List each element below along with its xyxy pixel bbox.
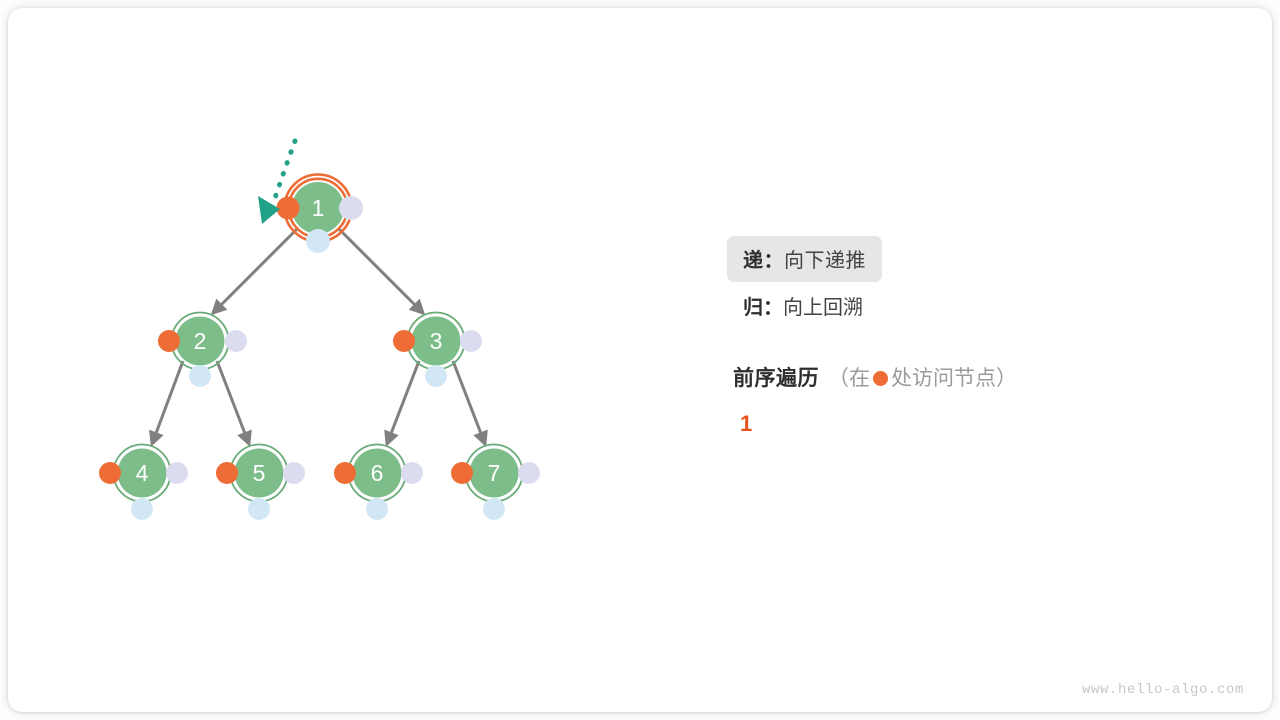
edge-2-4 [152, 361, 183, 444]
node-7-visit-dot [451, 462, 473, 484]
node-4-bottom-dot [131, 498, 153, 520]
edge-1-3 [339, 229, 423, 313]
traversal-title-text: 前序遍历 [733, 362, 819, 392]
screenshot-root: 1 2 3 4 [0, 0, 1280, 720]
node-4-visit-dot [99, 462, 121, 484]
node-3-right-dot [460, 330, 482, 352]
tree-node-5[interactable]: 5 [216, 445, 305, 521]
node-3-bottom-dot [425, 365, 447, 387]
binary-tree-diagram: 1 2 3 4 [0, 0, 1280, 720]
node-4-label: 4 [136, 460, 149, 486]
pointer-dotted-path [275, 141, 295, 198]
visit-dot-icon [873, 371, 888, 386]
node-2-right-dot [225, 330, 247, 352]
watermark: www.hello-algo.com [1082, 682, 1244, 698]
tree-node-4[interactable]: 4 [99, 445, 188, 521]
node-6-right-dot [401, 462, 423, 484]
node-7-bottom-dot [483, 498, 505, 520]
tree-node-7[interactable]: 7 [451, 445, 540, 521]
recurse-legend-text: 向下递推 [784, 250, 866, 272]
node-2-label: 2 [194, 328, 207, 354]
node-1-bottom-dot [306, 229, 330, 253]
traversal-subtitle: （在处访问节点） [828, 362, 1017, 392]
edge-3-6 [387, 361, 419, 444]
edge-2-5 [217, 361, 249, 444]
node-1-visit-dot [277, 197, 300, 220]
node-2-bottom-dot [189, 365, 211, 387]
node-6-label: 6 [371, 460, 384, 486]
traversal-output-sequence: 1 [740, 411, 755, 437]
node-5-visit-dot [216, 462, 238, 484]
node-2-visit-dot [158, 330, 180, 352]
node-4-right-dot [166, 462, 188, 484]
pointer-arrowhead-icon [258, 196, 280, 224]
edge-1-2 [213, 229, 297, 313]
node-3-label: 3 [430, 328, 443, 354]
node-1-right-dot [339, 196, 363, 220]
traversal-subtitle-before: （在 [828, 367, 870, 390]
tree-node-6[interactable]: 6 [334, 445, 423, 521]
node-7-right-dot [518, 462, 540, 484]
node-5-right-dot [283, 462, 305, 484]
node-6-bottom-dot [366, 498, 388, 520]
node-3-visit-dot [393, 330, 415, 352]
node-5-bottom-dot [248, 498, 270, 520]
tree-node-2[interactable]: 2 [158, 313, 247, 388]
tree-node-3[interactable]: 3 [393, 313, 482, 388]
node-6-visit-dot [334, 462, 356, 484]
node-1-label: 1 [312, 195, 325, 221]
backtrack-legend-lead: 归： [743, 297, 783, 319]
backtrack-legend-text: 向上回溯 [783, 297, 863, 319]
traversal-subtitle-after: 处访问节点） [891, 367, 1017, 390]
node-7-label: 7 [488, 460, 501, 486]
recurse-legend-lead: 递： [743, 250, 784, 272]
backtrack-legend: 归：向上回溯 [743, 291, 863, 320]
node-5-label: 5 [253, 460, 266, 486]
traversal-heading: 前序遍历 （在处访问节点） [733, 362, 1017, 392]
edge-3-7 [453, 361, 485, 444]
recurse-legend-badge: 递：向下递推 [727, 236, 882, 282]
